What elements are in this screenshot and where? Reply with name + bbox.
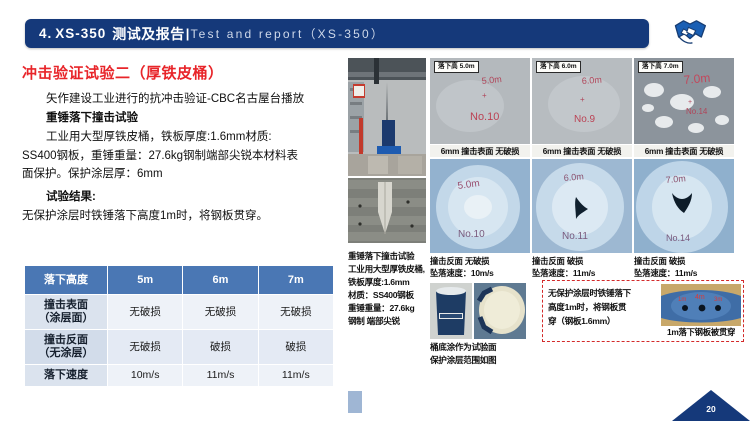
drop-height-tag-6m: 落下高 6.0m — [536, 61, 581, 73]
test-description-block: 重锤落下撞击试验 工业用大型厚铁皮桶, 铁板厚度:1.6mm 材质：SS400钢… — [348, 250, 434, 328]
drop-height-tag-7m: 落下高 7.0m — [638, 61, 683, 73]
cell-surface-6m: 无破损 — [183, 295, 258, 330]
callout-line-1: 无保护涂层时铁锤落下 — [548, 286, 658, 300]
callout-line-2: 高度1m时，将钢板贯 — [548, 300, 658, 314]
table-row-impact-back: 撞击反面 （无涂层） 无破损 破损 破损 — [25, 330, 334, 365]
decor-blue-edge — [348, 391, 362, 413]
svg-text:4m: 4m — [695, 294, 705, 301]
drop-height-tag-5m: 落下高 5.0m — [434, 61, 479, 73]
cell-surface-7m: 无破损 — [258, 295, 333, 330]
back-caption-7m: 撞击反面 破损 坠落速度：11m/s — [634, 255, 738, 279]
back-caption-6m: 撞击反面 破损 坠落速度：11m/s — [532, 255, 636, 279]
body-line-3: 工业用大型厚铁皮桶，铁板厚度:1.6mm材质: — [22, 128, 342, 147]
row-label-line2: （无涂层） — [39, 347, 94, 359]
row-label-line1: 撞击反面 — [44, 334, 88, 346]
impact-surface-6m-photo: 6.0m + No.9 落下高 6.0m — [532, 58, 632, 144]
slide-header-bar: 4. XS-350 测试及报告 | Test and report（XS-350… — [25, 19, 649, 48]
svg-text:No.9: No.9 — [574, 114, 596, 125]
page-number: 20 — [694, 404, 728, 414]
drum-caption: 桶底涂作为试验面 保护涂层范围如图 — [430, 341, 550, 367]
penetration-callout-text: 无保护涂层时铁锤落下 高度1m时，将钢板贯 穿（钢板1.6mm） — [548, 286, 658, 328]
table-header-7m: 7m — [258, 266, 333, 295]
svg-text:5.0m: 5.0m — [481, 74, 502, 86]
svg-text:+: + — [482, 91, 487, 100]
slide-root: 4. XS-350 测试及报告 | Test and report（XS-350… — [0, 0, 750, 421]
back-caption-7m-line2: 坠落速度：11m/s — [634, 267, 738, 279]
header-product-code: XS-350 — [55, 26, 106, 41]
penetration-photo: 1m 4m 3m — [661, 284, 741, 326]
left-content-column: 冲击验证试验二（厚铁皮桶） 矢作建设工业进行的抗冲击验证-CBC名古屋台播放 重… — [22, 64, 342, 225]
surface-caption-6m: 6mm 撞击表面 无破损 — [532, 145, 632, 157]
back-caption-5m: 撞击反面 无破损 坠落速度：10m/s — [430, 255, 534, 279]
impact-surface-5m-photo: 5.0m No.10 + 落下高 5.0m — [430, 58, 530, 144]
desc-line-4: 材质：SS400钢板 — [348, 289, 434, 302]
header-title-en: Test and report（XS-350） — [190, 25, 385, 42]
section-title: 冲击验证试验二（厚铁皮桶） — [22, 64, 342, 84]
impact-surface-7m-photo: 7.0m + No.14 落下高 7.0m — [634, 58, 734, 144]
body-line-4: SS400钢板，重锤重量：27.6kg钢制端部尖锐本材料表 — [22, 147, 342, 166]
drum-side-photo — [430, 283, 472, 339]
svg-text:No.14: No.14 — [686, 107, 708, 116]
svg-text:No.10: No.10 — [470, 111, 499, 123]
surface-caption-5m: 6mm 撞击表面 无破损 — [430, 145, 530, 157]
test-rig-photo — [348, 58, 426, 176]
body-line-1: 矢作建设工业进行的抗冲击验证-CBC名古屋台播放 — [22, 90, 342, 109]
header-section-number: 4. — [39, 26, 52, 41]
desc-line-1: 重锤落下撞击试验 — [348, 250, 434, 263]
table-header-drop-height: 落下高度 — [25, 266, 108, 295]
drum-caption-line2: 保护涂层范围如图 — [430, 354, 550, 367]
svg-text:6.0m: 6.0m — [563, 171, 584, 183]
drop-test-results-table: 落下高度 5m 6m 7m 撞击表面 （涂层面） 无破损 无破损 无破损 撞击反… — [24, 265, 334, 387]
cell-back-6m: 破损 — [183, 330, 258, 365]
table-row-drop-speed: 落下速度 10m/s 11m/s 11m/s — [25, 365, 334, 387]
result-label: 试验结果: — [22, 188, 342, 207]
body-line-2: 重锤落下撞击试验 — [22, 109, 342, 128]
back-caption-5m-line1: 撞击反面 无破损 — [430, 255, 534, 267]
surface-caption-7m: 6mm 撞击表面 无破损 — [634, 145, 734, 157]
cell-back-5m: 无破损 — [108, 330, 183, 365]
desc-line-6: 钢制 端部尖锐 — [348, 315, 434, 328]
row-label-line2: （涂层面） — [39, 312, 94, 324]
cell-speed-5m: 10m/s — [108, 365, 183, 387]
desc-line-3: 铁板厚度:1.6mm — [348, 276, 434, 289]
back-caption-6m-line1: 撞击反面 破损 — [532, 255, 636, 267]
table-header-5m: 5m — [108, 266, 183, 295]
impact-back-6m-photo: 6.0m No.11 — [532, 159, 632, 253]
row-label-line1: 撞击表面 — [44, 299, 88, 311]
desc-line-2: 工业用大型厚铁皮桶, — [348, 263, 434, 276]
body-line-5: 面保护。保护涂层厚：6mm — [22, 165, 342, 184]
header-separator: | — [186, 26, 190, 41]
row-label-impact-back: 撞击反面 （无涂层） — [25, 330, 108, 365]
penetration-callout-box: 无保护涂层时铁锤落下 高度1m时，将钢板贯 穿（钢板1.6mm） 1m 4m 3… — [542, 280, 744, 342]
cell-surface-5m: 无破损 — [108, 295, 183, 330]
cell-speed-7m: 11m/s — [258, 365, 333, 387]
photo-evidence-panel: 5.0m No.10 + 落下高 5.0m 6mm 撞击表面 无破损 6.0m … — [348, 58, 744, 398]
svg-text:7.0m: 7.0m — [665, 173, 686, 185]
penetration-photo-caption: 1m落下钢板被贯穿 — [657, 326, 745, 338]
back-caption-6m-line2: 坠落速度：11m/s — [532, 267, 636, 279]
result-text: 无保护涂层时铁锤落下高度1m时，将钢板贯穿。 — [22, 207, 342, 226]
header-title-cn: 测试及报告 — [112, 24, 185, 44]
back-caption-5m-line2: 坠落速度：10m/s — [430, 267, 534, 279]
svg-text:No.10: No.10 — [458, 229, 485, 240]
svg-text:+: + — [580, 95, 585, 104]
svg-text:6.0m: 6.0m — [581, 75, 602, 86]
cell-back-7m: 破损 — [258, 330, 333, 365]
callout-line-3: 穿（钢板1.6mm） — [548, 314, 658, 328]
svg-text:+: + — [688, 99, 692, 106]
svg-text:1m: 1m — [678, 297, 686, 303]
table-header-6m: 6m — [183, 266, 258, 295]
drum-bottom-photo — [474, 283, 526, 339]
svg-text:3m: 3m — [714, 297, 722, 303]
back-caption-7m-line1: 撞击反面 破损 — [634, 255, 738, 267]
row-label-impact-surface: 撞击表面 （涂层面） — [25, 295, 108, 330]
svg-text:7.0m: 7.0m — [683, 71, 711, 87]
impact-back-5m-photo: 5.0m No.10 — [430, 159, 530, 253]
table-header-row: 落下高度 5m 6m 7m — [25, 266, 334, 295]
drum-caption-line1: 桶底涂作为试验面 — [430, 341, 550, 354]
svg-text:No.14: No.14 — [666, 233, 690, 243]
cell-speed-6m: 11m/s — [183, 365, 258, 387]
row-label-drop-speed: 落下速度 — [25, 365, 108, 387]
hammer-tip-photo — [348, 178, 426, 243]
desc-line-5: 重锤重量：27.6kg — [348, 302, 434, 315]
table-row-impact-surface: 撞击表面 （涂层面） 无破损 无破损 无破损 — [25, 295, 334, 330]
impact-back-7m-photo: 7.0m No.14 — [634, 159, 734, 253]
handshake-icon — [670, 16, 710, 50]
svg-text:No.11: No.11 — [562, 231, 588, 242]
